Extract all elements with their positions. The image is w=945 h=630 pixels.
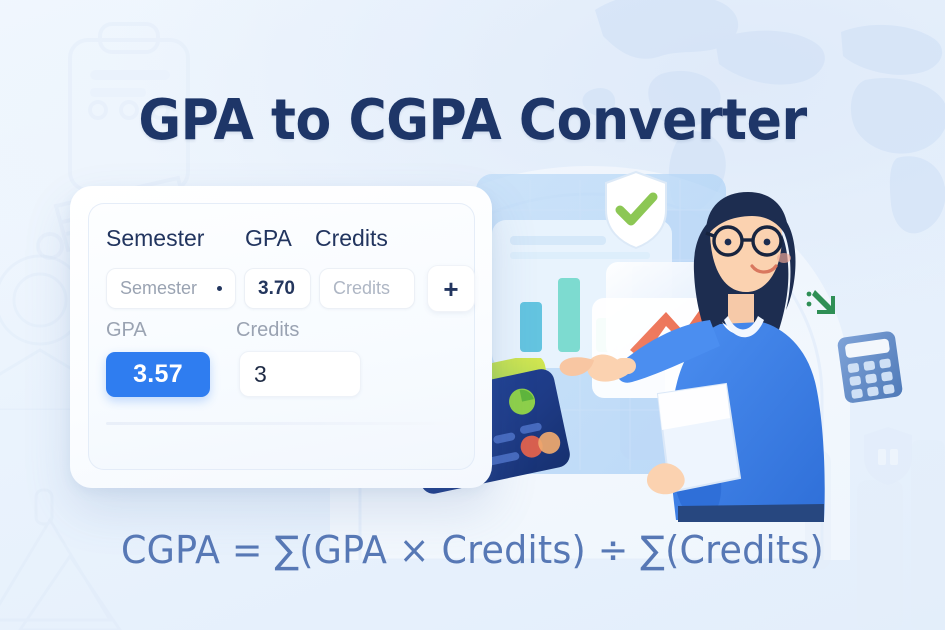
card-divider	[106, 422, 449, 425]
gpa-result-badge: 3.57	[106, 352, 210, 397]
column-header-gpa: GPA	[245, 225, 315, 252]
calculator-icon	[835, 330, 907, 405]
column-headers: Semester GPA Credits	[106, 225, 405, 252]
semester-select[interactable]: Semester	[106, 268, 236, 309]
credits-value-text: 3	[254, 361, 267, 388]
entry-row: Semester 3.70 Credits +	[106, 265, 475, 312]
gpa-input-value: 3.70	[258, 278, 295, 300]
poster-canvas: GPA to CGPA Converter	[0, 0, 945, 630]
gpa-input[interactable]: 3.70	[244, 268, 311, 309]
credits-input-placeholder: Credits	[333, 278, 390, 299]
credits-input[interactable]: Credits	[319, 268, 415, 309]
cgpa-formula: CGPA = ∑(GPA × Credits) ÷ ∑(Credits)	[19, 528, 926, 572]
gpa-calculator-card: Semester GPA Credits Semester 3.70 Credi…	[70, 186, 492, 488]
result-label-gpa: GPA	[106, 319, 236, 342]
column-header-semester: Semester	[106, 225, 245, 252]
result-row: 3.57 3	[106, 351, 361, 397]
add-row-button[interactable]: +	[427, 265, 475, 312]
result-label-credits: Credits	[236, 319, 346, 342]
credits-value-input[interactable]: 3	[239, 351, 361, 397]
semester-select-placeholder: Semester	[120, 278, 197, 299]
result-labels: GPA Credits	[106, 319, 346, 342]
growth-arrow-icon	[805, 288, 839, 318]
chevron-down-icon	[217, 286, 222, 291]
page-title: GPA to CGPA Converter	[33, 88, 912, 153]
column-header-credits: Credits	[315, 225, 405, 252]
calculator-inner-panel: Semester GPA Credits Semester 3.70 Credi…	[88, 203, 475, 470]
shield-ghost-icon	[862, 425, 914, 487]
